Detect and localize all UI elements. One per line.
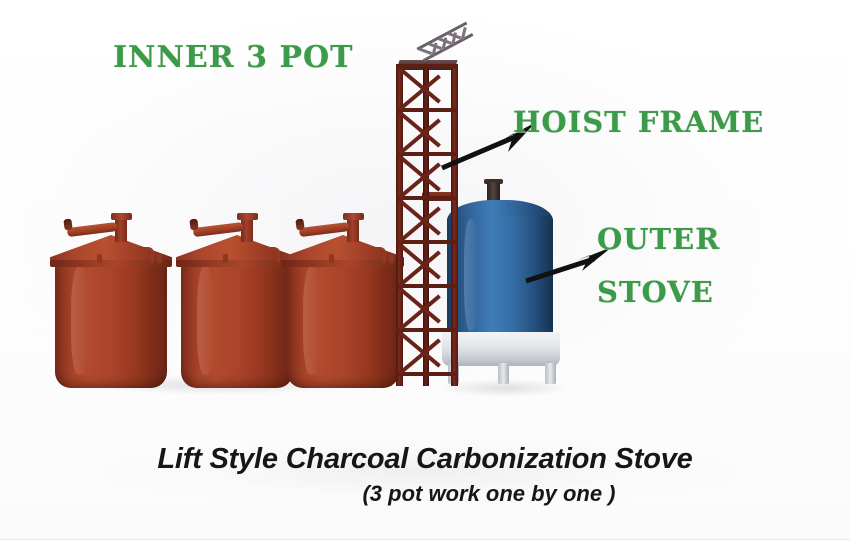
pot-lid-rim <box>50 260 172 267</box>
pot-lifting-lug <box>329 254 334 263</box>
pot-lifting-hook <box>371 247 386 265</box>
pot-lifting-lug <box>97 254 102 263</box>
pot-body <box>287 263 399 388</box>
stove-leg <box>498 363 509 384</box>
tower-brace <box>398 162 441 199</box>
pot-stack-cap <box>111 213 132 220</box>
tower-rung <box>396 64 458 68</box>
label-hoist-frame: HOIST FRAME <box>513 105 764 139</box>
pot-stack-cap <box>237 213 258 220</box>
pot-lifting-lug <box>223 254 228 263</box>
tower-brace <box>398 294 441 331</box>
tower-brace <box>398 242 441 279</box>
tower-rung <box>396 372 458 376</box>
tower-brace <box>398 154 441 191</box>
tower-rung <box>396 284 458 288</box>
tower-brace <box>398 118 441 155</box>
tower-brace <box>398 110 441 147</box>
pot-lifting-lug <box>157 254 162 263</box>
tower-brace <box>398 338 441 375</box>
tower-rung <box>396 196 458 200</box>
stove-leg <box>545 363 556 384</box>
tower-brace <box>398 206 441 243</box>
jib-brace <box>419 48 432 55</box>
page-subtitle: (3 pot work one by one ) <box>0 481 850 507</box>
label-outer-stove-line1: OUTER <box>597 222 720 256</box>
stove-base-ring <box>442 332 560 366</box>
outer-stove[interactable] <box>446 200 556 390</box>
tower-leg-right <box>451 64 458 386</box>
pot-lifting-hook <box>265 247 280 265</box>
hoist-frame[interactable] <box>396 64 458 386</box>
pot-stack-cap <box>343 213 364 220</box>
tower-brace <box>398 74 441 111</box>
tower-brace <box>398 286 441 323</box>
pot-gas-pipe-opening <box>295 219 304 231</box>
diagram-canvas: INNER 3 POT HOIST FRAME OUTER STOVE Lift… <box>0 0 850 540</box>
tower-brace <box>398 66 441 103</box>
tower-brace <box>398 250 441 287</box>
page-title: Lift Style Charcoal Carbonization Stove <box>0 443 850 476</box>
pot-lifting-hook <box>139 247 154 265</box>
pot-body <box>55 263 167 388</box>
tower-rung <box>396 240 458 244</box>
tower-brace <box>398 330 441 367</box>
inner-pot-3[interactable] <box>287 213 407 393</box>
pot-gas-pipe-opening <box>63 219 72 231</box>
tower-rung <box>396 108 458 112</box>
inner-pot-1[interactable] <box>55 213 175 393</box>
pot-lid-rim <box>282 260 404 267</box>
tower-rung <box>396 328 458 332</box>
tower-brace <box>398 198 441 235</box>
label-outer-stove-line2: STOVE <box>597 275 714 309</box>
pot-lid-rim <box>176 260 298 267</box>
label-inner-3-pot: INNER 3 POT <box>113 40 353 75</box>
pot-gas-pipe-opening <box>189 219 198 231</box>
pot-body <box>181 263 293 388</box>
pot-lifting-lug <box>389 254 394 263</box>
